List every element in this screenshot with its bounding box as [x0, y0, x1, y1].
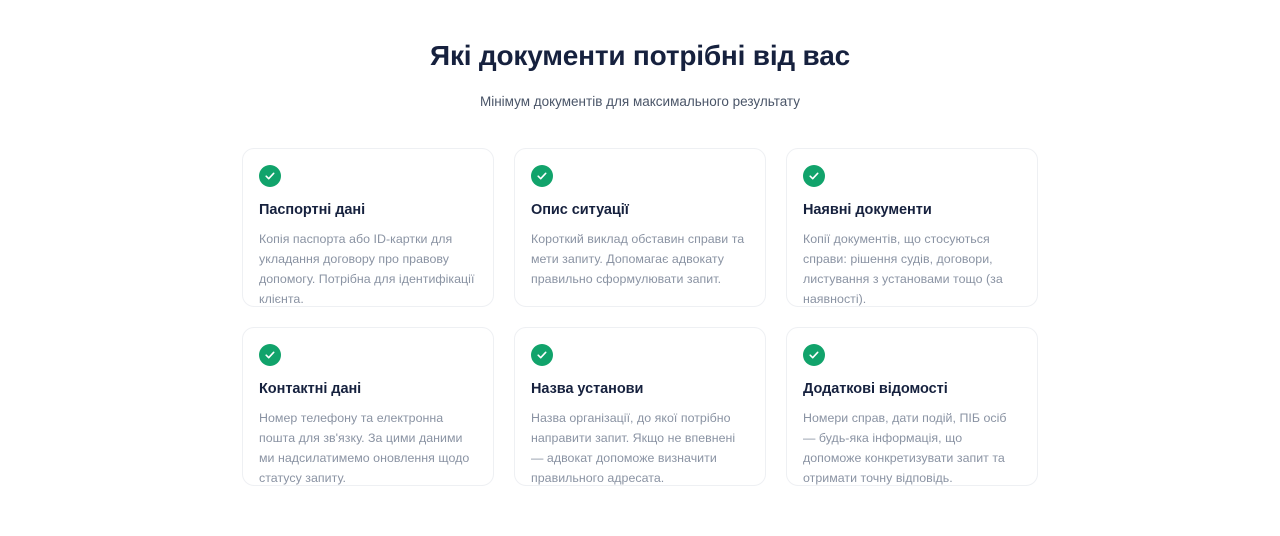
page-title: Які документи потрібні від вас — [0, 38, 1280, 73]
check-circle-icon — [259, 165, 281, 187]
check-circle-icon — [531, 344, 553, 366]
requirement-card-description: Копії документів, що стосуються справи: … — [803, 229, 1021, 307]
requirement-card-title: Опис ситуації — [531, 201, 629, 220]
requirements-card-grid: Паспортні дані Копія паспорта або ID-кар… — [242, 148, 1038, 486]
check-circle-icon — [531, 165, 553, 187]
requirement-card-description: Назва організації, до якої потрібно напр… — [531, 408, 749, 486]
requirement-card: Назва установи Назва організації, до яко… — [514, 327, 766, 486]
requirement-card-description: Номери справ, дати подій, ПІБ осіб — буд… — [803, 408, 1021, 486]
page-subtitle: Мінімум документів для максимального рез… — [0, 93, 1280, 112]
requirement-card-title: Контактні дані — [259, 380, 361, 399]
page-header: Які документи потрібні від вас Мінімум д… — [0, 0, 1280, 112]
requirement-card: Контактні дані Номер телефону та електро… — [242, 327, 494, 486]
check-circle-icon — [259, 344, 281, 366]
requirement-card-description: Номер телефону та електронна пошта для з… — [259, 408, 477, 486]
requirement-card-title: Паспортні дані — [259, 201, 365, 220]
requirement-card: Наявні документи Копії документів, що ст… — [786, 148, 1038, 307]
check-circle-icon — [803, 165, 825, 187]
requirement-card-description: Копія паспорта або ID-картки для укладан… — [259, 229, 477, 307]
requirement-card-title: Наявні документи — [803, 201, 932, 220]
requirement-card-title: Назва установи — [531, 380, 643, 399]
requirement-card: Додаткові відомості Номери справ, дати п… — [786, 327, 1038, 486]
requirement-card: Опис ситуації Короткий виклад обставин с… — [514, 148, 766, 307]
requirement-card: Паспортні дані Копія паспорта або ID-кар… — [242, 148, 494, 307]
documents-requirements-page: Які документи потрібні від вас Мінімум д… — [0, 0, 1280, 536]
requirement-card-description: Короткий виклад обставин справи та мети … — [531, 229, 749, 289]
check-circle-icon — [803, 344, 825, 366]
requirement-card-title: Додаткові відомості — [803, 380, 948, 399]
